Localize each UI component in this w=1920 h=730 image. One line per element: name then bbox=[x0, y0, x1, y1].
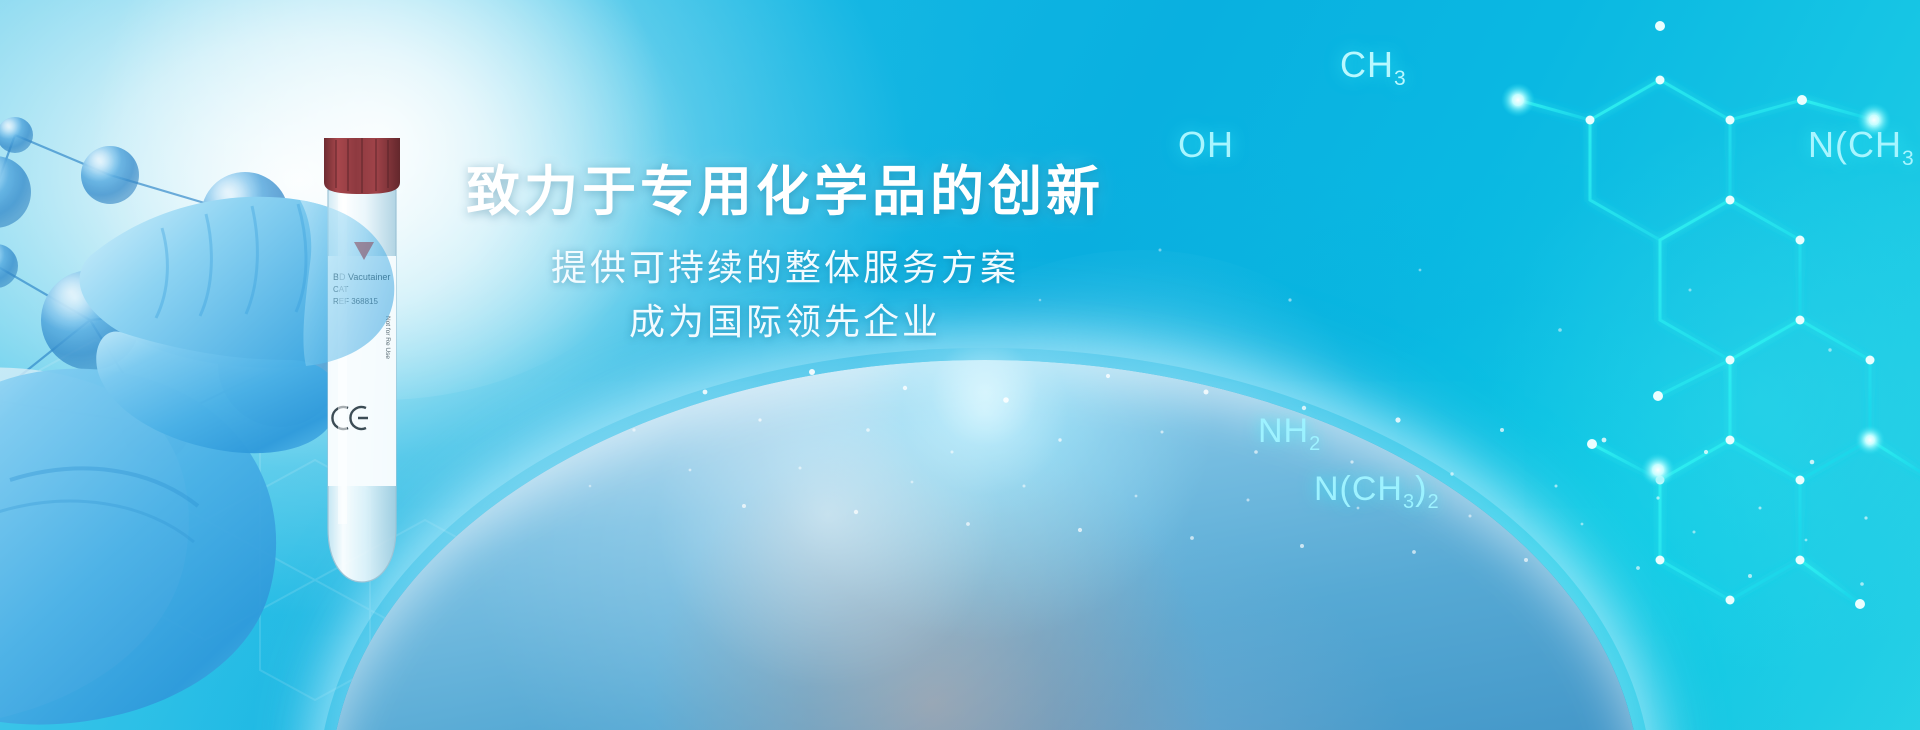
chem-label-nch3-top-text: N(CH bbox=[1808, 124, 1902, 165]
subtitle-line-2: 成为国际领先企业 bbox=[629, 295, 941, 350]
chem-label-nh2-text: NH bbox=[1258, 412, 1309, 450]
chem-label-nh2: NH2 bbox=[1258, 412, 1321, 456]
chem-label-nch3-bottom-sub2: 2 bbox=[1427, 491, 1439, 513]
page-title: 致力于专用化学品的创新 bbox=[466, 162, 1104, 222]
chem-label-nh2-sub: 2 bbox=[1309, 433, 1321, 455]
chem-label-nch3-bottom-close: ) bbox=[1415, 470, 1427, 508]
chem-label-nch3-top-sub: 3 bbox=[1902, 147, 1915, 170]
hero-banner: BD Vacutainer CAT REF 368815 Not for Re … bbox=[0, 0, 1920, 730]
chem-label-nch3-top: N(CH3 bbox=[1808, 124, 1915, 171]
chem-label-nch3-bottom-text: N(CH bbox=[1314, 470, 1403, 508]
hero-copy-block: 致力于专用化学品的创新 提供可持续的整体服务方案 成为国际领先企业 bbox=[0, 0, 1570, 350]
chem-label-nch3-bottom: N(CH3)2 bbox=[1314, 470, 1440, 514]
subtitle-line-1: 提供可持续的整体服务方案 bbox=[551, 241, 1019, 296]
chem-label-nch3-bottom-sub: 3 bbox=[1403, 491, 1415, 513]
